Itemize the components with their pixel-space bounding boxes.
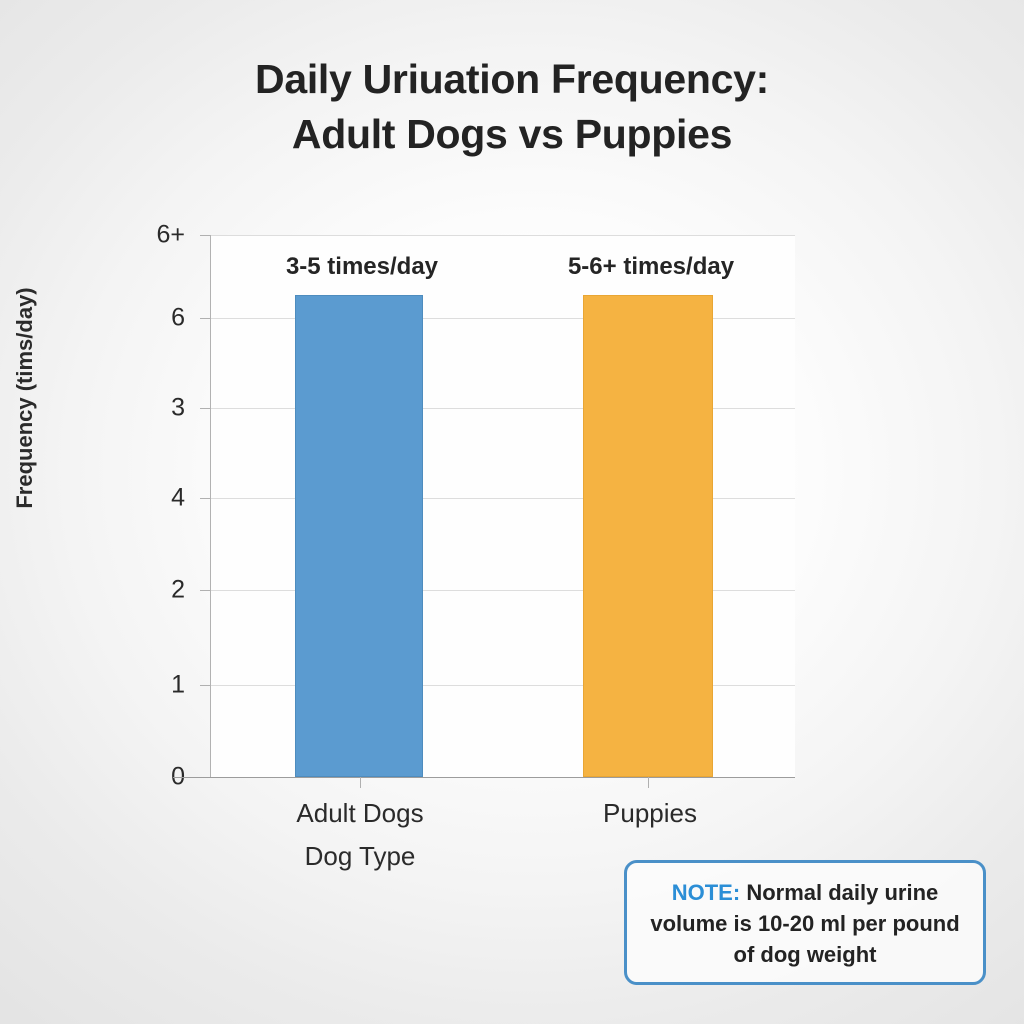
- x-tick-mark-0: [360, 777, 361, 788]
- y-tick-label-2: 3: [125, 394, 185, 423]
- note-callout-box: NOTE: Normal daily urine volume is 10-20…: [624, 860, 986, 985]
- x-axis-line: [173, 777, 795, 778]
- bar-puppies[interactable]: [583, 295, 713, 777]
- chart-title-line-1: Daily Uriuation Frequency:: [255, 56, 769, 102]
- x-axis-title: Dog Type: [230, 841, 490, 872]
- y-tick-label-1: 6: [125, 304, 185, 333]
- y-tick-label-0: 6+: [125, 221, 185, 250]
- y-tick-label-5: 1: [125, 671, 185, 700]
- y-tick-label-3: 4: [125, 484, 185, 513]
- chart-title: Daily Uriuation Frequency: Adult Dogs vs…: [0, 52, 1024, 161]
- y-tick-mark-2: [200, 408, 210, 409]
- y-tick-mark-4: [200, 590, 210, 591]
- y-axis-line: [210, 235, 211, 777]
- chart-figure: Daily Uriuation Frequency: Adult Dogs vs…: [0, 0, 1024, 1024]
- bar-value-label-puppies: 5-6+ times/day: [523, 253, 779, 281]
- chart-title-line-2: Adult Dogs vs Puppies: [0, 107, 1024, 162]
- plot-area: [210, 235, 795, 777]
- y-tick-mark-5: [200, 685, 210, 686]
- y-tick-label-4: 2: [125, 576, 185, 605]
- x-tick-label-puppies: Puppies: [520, 798, 780, 829]
- y-axis-title: Frequency (tims/day): [12, 218, 38, 578]
- bar-adult-dogs[interactable]: [295, 295, 423, 777]
- x-tick-mark-1: [648, 777, 649, 788]
- gridline-0: [210, 235, 795, 236]
- y-tick-mark-1: [200, 318, 210, 319]
- x-tick-label-adult-dogs: Adult Dogs: [230, 798, 490, 829]
- note-label: NOTE:: [672, 880, 740, 905]
- bar-value-label-adult-dogs: 3-5 times/day: [234, 253, 490, 281]
- y-tick-mark-0: [200, 235, 210, 236]
- y-tick-mark-3: [200, 498, 210, 499]
